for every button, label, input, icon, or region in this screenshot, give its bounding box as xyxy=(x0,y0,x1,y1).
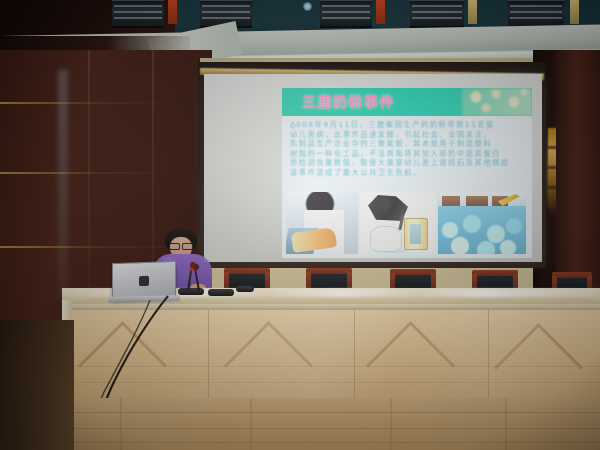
podium-panel xyxy=(488,310,600,400)
slide-body-line: 2008年9月11日，三鹿集团生产的奶粉导致11名婴 xyxy=(290,120,526,130)
microphone-head xyxy=(193,264,199,270)
photo-cartoon-milk-can xyxy=(360,192,436,254)
ceiling-accent-1 xyxy=(168,0,177,24)
presentation-slide: 三鹿奶粉事件 ◇ 2008年9月11日，三鹿集团生产的奶粉导致11名婴 幼儿患病… xyxy=(282,88,532,258)
ceiling-accent-4 xyxy=(570,0,579,24)
photo-dumped-milk-powder xyxy=(438,192,526,254)
recessed-light-1 xyxy=(112,0,164,28)
presenter-glasses-icon xyxy=(169,243,193,248)
ceiling-accent-2 xyxy=(376,0,385,24)
ceiling-accent-3 xyxy=(468,0,477,24)
gooseneck-microphone-right xyxy=(208,289,234,296)
floor-shadow-left xyxy=(0,320,74,450)
slide-body: ◇ 2008年9月11日，三鹿集团生产的奶粉导致11名婴 幼儿患病，此事件迅速发… xyxy=(290,120,526,178)
recessed-light-3 xyxy=(320,0,372,28)
recessed-light-5 xyxy=(508,0,564,28)
ceiling-spotlight-1 xyxy=(303,2,312,11)
slide-decor-bokeh-icon xyxy=(462,88,532,116)
laptop-logo-icon xyxy=(139,276,149,286)
slide-body-line: 树脂的一种化工品，不法商贩将其加入原奶中提高蛋白 xyxy=(290,149,526,159)
podium-front-face xyxy=(62,310,600,400)
slide-body-line: 质检测含量数值，致使大量婴幼儿患上肾结石及其他病症 xyxy=(290,158,526,168)
slide-body-line: 该事件造成了重大公共卫生危机。 xyxy=(290,168,526,178)
projection-screen: 三鹿奶粉事件 ◇ 2008年9月11日，三鹿集团生产的奶粉导致11名婴 幼儿患病… xyxy=(204,74,542,262)
slide-body-line: 幼儿患病，此事件迅速发酵，引起社会、全国关注。 xyxy=(290,130,526,140)
podium-panel xyxy=(62,310,210,400)
slide-photo-row xyxy=(286,192,528,254)
wood-floor xyxy=(0,398,600,450)
photo-child-feeding xyxy=(286,192,358,254)
lecture-hall-photo: 三鹿奶粉事件 ◇ 2008年9月11日，三鹿集团生产的奶粉导致11名婴 幼儿患病… xyxy=(0,0,600,450)
recessed-light-4 xyxy=(410,0,464,28)
podium-panel xyxy=(208,310,356,400)
gooseneck-microphone-left xyxy=(178,288,204,295)
slide-body-line: 乳制品生产企业中的三聚氰胺，其本是用于制造塑料 xyxy=(290,139,526,149)
podium-panel xyxy=(354,310,490,400)
table-microphone-center xyxy=(236,286,254,292)
slide-title: 三鹿奶粉事件 xyxy=(302,92,395,112)
